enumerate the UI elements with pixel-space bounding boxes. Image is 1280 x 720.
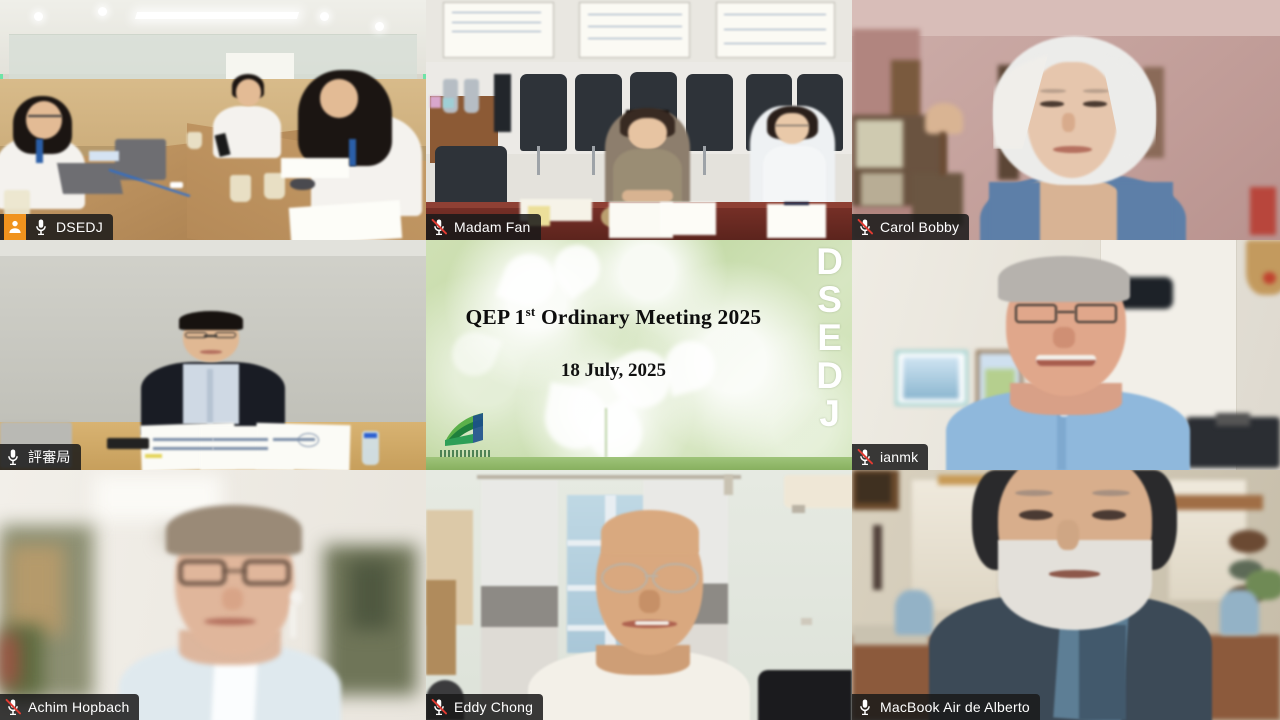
microphone-muted-icon <box>4 698 22 716</box>
name-plate-madam-fan: Madam Fan <box>426 214 541 240</box>
microphone-muted-icon <box>430 218 448 236</box>
microphone-muted-icon <box>856 448 874 466</box>
microphone-icon <box>856 698 874 716</box>
video-feed-macbook-air-de-alberto <box>852 470 1280 720</box>
video-feed-madam-fan <box>426 0 852 240</box>
participant-name: ianmk <box>880 450 918 465</box>
slide-date: 18 July, 2025 <box>443 360 784 382</box>
microphone-icon <box>32 218 50 236</box>
slide-canvas: QEP 1st Ordinary Meeting 2025 18 July, 2… <box>426 240 852 470</box>
shared-presentation: QEP 1st Ordinary Meeting 2025 18 July, 2… <box>426 240 852 470</box>
video-feed-carol-bobby <box>852 0 1280 240</box>
name-plate-ianmk: ianmk <box>852 444 928 470</box>
participant-name: MacBook Air de Alberto <box>880 700 1030 715</box>
screen-share-tile[interactable]: QEP 1st Ordinary Meeting 2025 18 July, 2… <box>426 240 852 470</box>
video-tile-pingshenju[interactable]: 評審局 <box>0 240 426 470</box>
video-tile-eddy-chong[interactable]: Eddy Chong <box>426 470 852 720</box>
video-tile-madam-fan[interactable]: Madam Fan <box>426 0 852 240</box>
vertical-letter: D <box>816 244 843 280</box>
video-gallery-grid: DSEDJ <box>0 0 1280 720</box>
video-feed-eddy-chong <box>426 470 852 720</box>
microphone-icon <box>4 448 22 466</box>
name-plate-macbook-air-de-alberto: MacBook Air de Alberto <box>852 694 1040 720</box>
name-plate-pingshenju: 評審局 <box>0 444 81 470</box>
slide-title: QEP 1st Ordinary Meeting 2025 <box>443 304 784 330</box>
vertical-letter: D <box>816 358 843 394</box>
vertical-letter: E <box>816 320 843 356</box>
microphone-muted-icon <box>856 218 874 236</box>
name-plate-achim-hopbach: Achim Hopbach <box>0 694 139 720</box>
video-feed-dsedj <box>0 0 426 240</box>
slide-vertical-dsedj: D S E D J <box>816 244 843 456</box>
video-tile-macbook-air-de-alberto[interactable]: MacBook Air de Alberto <box>852 470 1280 720</box>
dsedj-logo <box>443 410 487 448</box>
participant-name: Madam Fan <box>454 220 531 235</box>
participant-name: Eddy Chong <box>454 700 533 715</box>
vertical-letter: J <box>816 396 843 432</box>
participant-icon <box>4 214 26 240</box>
slide-footer-band <box>426 457 852 470</box>
name-plate-eddy-chong: Eddy Chong <box>426 694 543 720</box>
participant-name: DSEDJ <box>56 220 103 235</box>
video-tile-ianmk[interactable]: ianmk <box>852 240 1280 470</box>
vertical-letter: S <box>816 282 843 318</box>
participant-name: Achim Hopbach <box>28 700 129 715</box>
participant-name: Carol Bobby <box>880 220 959 235</box>
video-feed-ianmk <box>852 240 1280 470</box>
video-tile-carol-bobby[interactable]: Carol Bobby <box>852 0 1280 240</box>
video-feed-pingshenju <box>0 240 426 470</box>
video-tile-dsedj[interactable]: DSEDJ <box>0 0 426 240</box>
name-plate-dsedj: DSEDJ <box>0 214 113 240</box>
video-tile-achim-hopbach[interactable]: Achim Hopbach <box>0 470 426 720</box>
name-plate-carol-bobby: Carol Bobby <box>852 214 969 240</box>
microphone-muted-icon <box>430 698 448 716</box>
video-feed-achim-hopbach <box>0 470 426 720</box>
participant-name: 評審局 <box>28 450 71 465</box>
